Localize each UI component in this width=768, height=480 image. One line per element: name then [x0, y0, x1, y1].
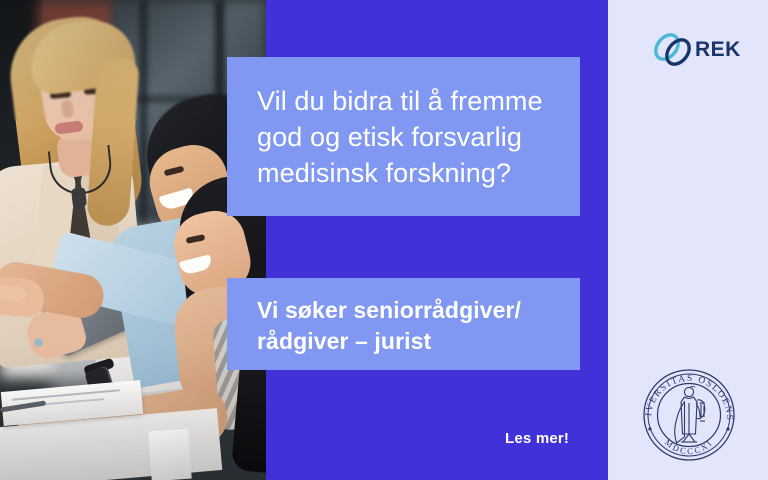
read-more-link[interactable]: Les mer!: [505, 430, 569, 447]
notebook: [148, 429, 191, 480]
man-seated-pointing-finger: [0, 285, 26, 302]
headline-line-3: medisinsk forskning?: [257, 155, 550, 191]
seal-bottom-text: MDCCCXI: [663, 437, 715, 456]
seal-dot-left: [648, 427, 651, 430]
headline-line-2: god og etisk forsvarlig: [257, 119, 550, 155]
woman-standing-ring: [34, 338, 43, 347]
rek-interlocking-rings-icon: [651, 31, 694, 69]
woman-standing-nose: [61, 99, 74, 118]
headline-card: Vil du bidra til å fremme god og etisk f…: [227, 57, 580, 216]
seal-top-text: UNIVERSITAS OSLOENSIS: [637, 363, 734, 422]
seal-dot-right: [726, 427, 729, 430]
uio-seal: UNIVERSITAS OSLOENSIS MDCCCXI: [637, 363, 741, 467]
rek-wordmark: REK: [695, 38, 741, 61]
role-line-1: Vi søker seniorrådgiver/: [257, 295, 550, 326]
headline-line-1: Vil du bidra til å fremme: [257, 83, 550, 119]
rek-logo[interactable]: REK: [648, 27, 744, 71]
role-line-2: rådgiver – jurist: [257, 326, 550, 357]
job-advert-banner: Vil du bidra til å fremme god og etisk f…: [0, 0, 768, 480]
window-mullion-left: [140, 0, 147, 240]
role-card: Vi søker seniorrådgiver/ rådgiver – juri…: [227, 278, 580, 370]
seal-apollo-figure: [675, 386, 705, 443]
woman-standing-pendant: [71, 187, 87, 207]
